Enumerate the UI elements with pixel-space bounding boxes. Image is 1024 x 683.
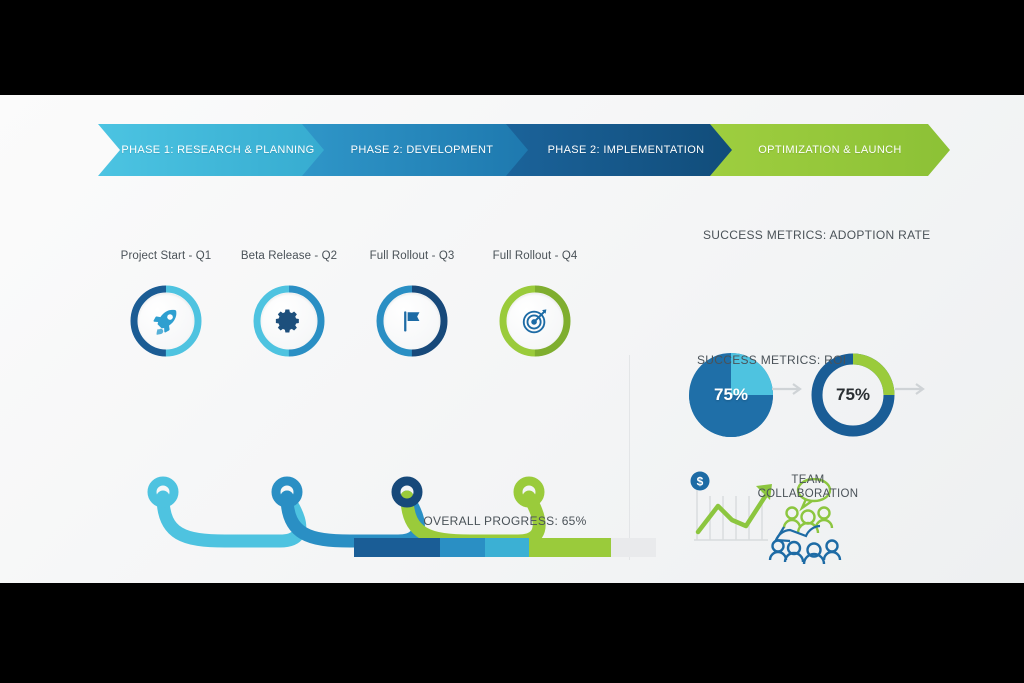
phase-arrow-4-label: OPTIMIZATION & LAUNCH bbox=[758, 144, 901, 156]
milestone-group: Project Start - Q1 bbox=[96, 250, 616, 490]
phase-arrow-4[interactable]: OPTIMIZATION & LAUNCH bbox=[710, 124, 950, 176]
overall-progress-label: OVERALL PROGRESS: 65% bbox=[354, 514, 656, 528]
dollar-badge-label: $ bbox=[697, 475, 704, 489]
milestone-2-label: Beta Release - Q2 bbox=[219, 250, 359, 262]
milestone-4[interactable]: Full Rollout - Q4 bbox=[465, 250, 605, 358]
milestone-3-ring bbox=[375, 284, 449, 358]
milestone-1-ring bbox=[129, 284, 203, 358]
progress-segment-3 bbox=[485, 538, 529, 557]
phase-timeline: PHASE 1: RESEARCH & PLANNING PHASE 2: DE… bbox=[98, 124, 950, 176]
overall-progress-bar[interactable] bbox=[354, 538, 656, 557]
adoption-arrow-2-icon bbox=[895, 382, 929, 401]
milestone-1-label: Project Start - Q1 bbox=[96, 250, 236, 262]
team-collaboration-label: TEAM COLLABORATION bbox=[722, 473, 894, 501]
phase-arrow-3-label: PHASE 2: IMPLEMENTATION bbox=[548, 144, 705, 156]
milestone-2[interactable]: Beta Release - Q2 bbox=[219, 250, 359, 358]
progress-segment-1 bbox=[354, 538, 440, 557]
progress-segment-4 bbox=[529, 538, 611, 557]
milestone-1-inner bbox=[138, 293, 194, 349]
phase-arrow-2-label: PHASE 2: DEVELOPMENT bbox=[351, 144, 494, 156]
letterbox-top bbox=[0, 0, 1024, 95]
gear-icon bbox=[274, 306, 304, 336]
phase-arrow-1-label: PHASE 1: RESEARCH & PLANNING bbox=[121, 144, 314, 156]
flag-icon bbox=[398, 307, 426, 335]
letterbox-bottom bbox=[0, 583, 1024, 683]
adoption-rate-title: SUCCESS METRICS: ADOPTION RATE bbox=[703, 228, 930, 242]
milestone-4-label: Full Rollout - Q4 bbox=[465, 250, 605, 262]
milestone-3-label: Full Rollout - Q3 bbox=[342, 250, 482, 262]
progress-segment-2 bbox=[440, 538, 485, 557]
milestone-3-inner bbox=[384, 293, 440, 349]
team-label-line1: TEAM bbox=[722, 473, 894, 487]
milestone-1[interactable]: Project Start - Q1 bbox=[96, 250, 236, 358]
rocket-icon bbox=[151, 306, 181, 336]
team-label-line2: COLLABORATION bbox=[722, 487, 894, 501]
milestone-4-ring bbox=[498, 284, 572, 358]
target-icon bbox=[520, 306, 550, 336]
adoption-arrow-1-icon bbox=[772, 382, 806, 401]
slide-canvas: PHASE 1: RESEARCH & PLANNING PHASE 2: DE… bbox=[0, 95, 1024, 583]
panel-divider bbox=[629, 355, 630, 560]
group-blue-icon bbox=[770, 541, 840, 565]
milestone-3[interactable]: Full Rollout - Q3 bbox=[342, 250, 482, 358]
group-green-icon bbox=[784, 508, 832, 534]
milestone-4-inner bbox=[507, 293, 563, 349]
milestone-2-ring bbox=[252, 284, 326, 358]
milestone-2-inner bbox=[261, 293, 317, 349]
roi-title: SUCCESS METRICS: ROI bbox=[697, 353, 846, 367]
